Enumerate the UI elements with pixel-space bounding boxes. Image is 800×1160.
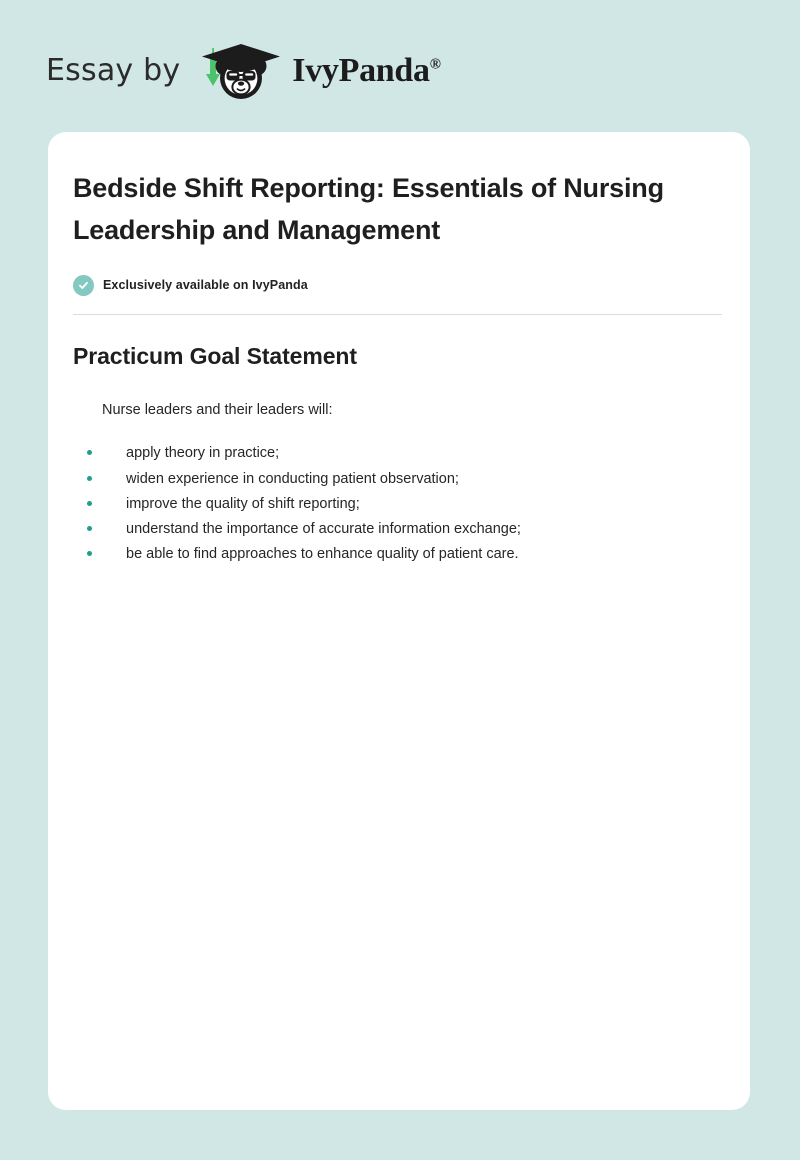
page-title: Bedside Shift Reporting: Essentials of N… [73,168,703,252]
list-item: improve the quality of shift reporting; [73,492,722,517]
exclusive-badge-label: Exclusively available on IvyPanda [103,278,308,292]
ivypanda-wordmark: IvyPanda® [292,54,440,88]
list-item-label: apply theory in practice; [126,445,279,461]
bullet-dot-icon [87,551,92,556]
bullet-dot-icon [87,501,92,506]
panda-graduation-cap-icon [194,40,286,102]
brand-header: Essay by [46,42,441,100]
essay-page: Essay by [0,0,800,1160]
bullet-dot-icon [87,476,92,481]
list-item: apply theory in practice; [73,441,722,466]
essay-by-label: Essay by [46,56,180,86]
bullet-dot-icon [87,450,92,455]
bullet-dot-icon [87,526,92,531]
header-divider [73,314,722,315]
list-item: widen experience in conducting patient o… [73,467,722,492]
document-card: Bedside Shift Reporting: Essentials of N… [48,132,750,1110]
card-content: Bedside Shift Reporting: Essentials of N… [48,132,750,567]
list-item: understand the importance of accurate in… [73,517,722,542]
goal-list: apply theory in practice; widen experien… [73,441,722,566]
registered-trademark-symbol: ® [430,57,441,73]
section-heading: Practicum Goal Statement [73,343,722,370]
ivypanda-logo[interactable]: IvyPanda® [194,40,440,102]
intro-paragraph: Nurse leaders and their leaders will: [102,400,722,422]
list-item-label: be able to find approaches to enhance qu… [126,546,519,562]
list-item-label: understand the importance of accurate in… [126,521,521,537]
list-item-label: widen experience in conducting patient o… [126,471,459,487]
list-item: be able to find approaches to enhance qu… [73,542,722,567]
brand-name-text: IvyPanda [292,52,429,89]
exclusive-availability-badge: Exclusively available on IvyPanda [73,275,722,296]
check-circle-icon [73,275,94,296]
list-item-label: improve the quality of shift reporting; [126,496,360,512]
